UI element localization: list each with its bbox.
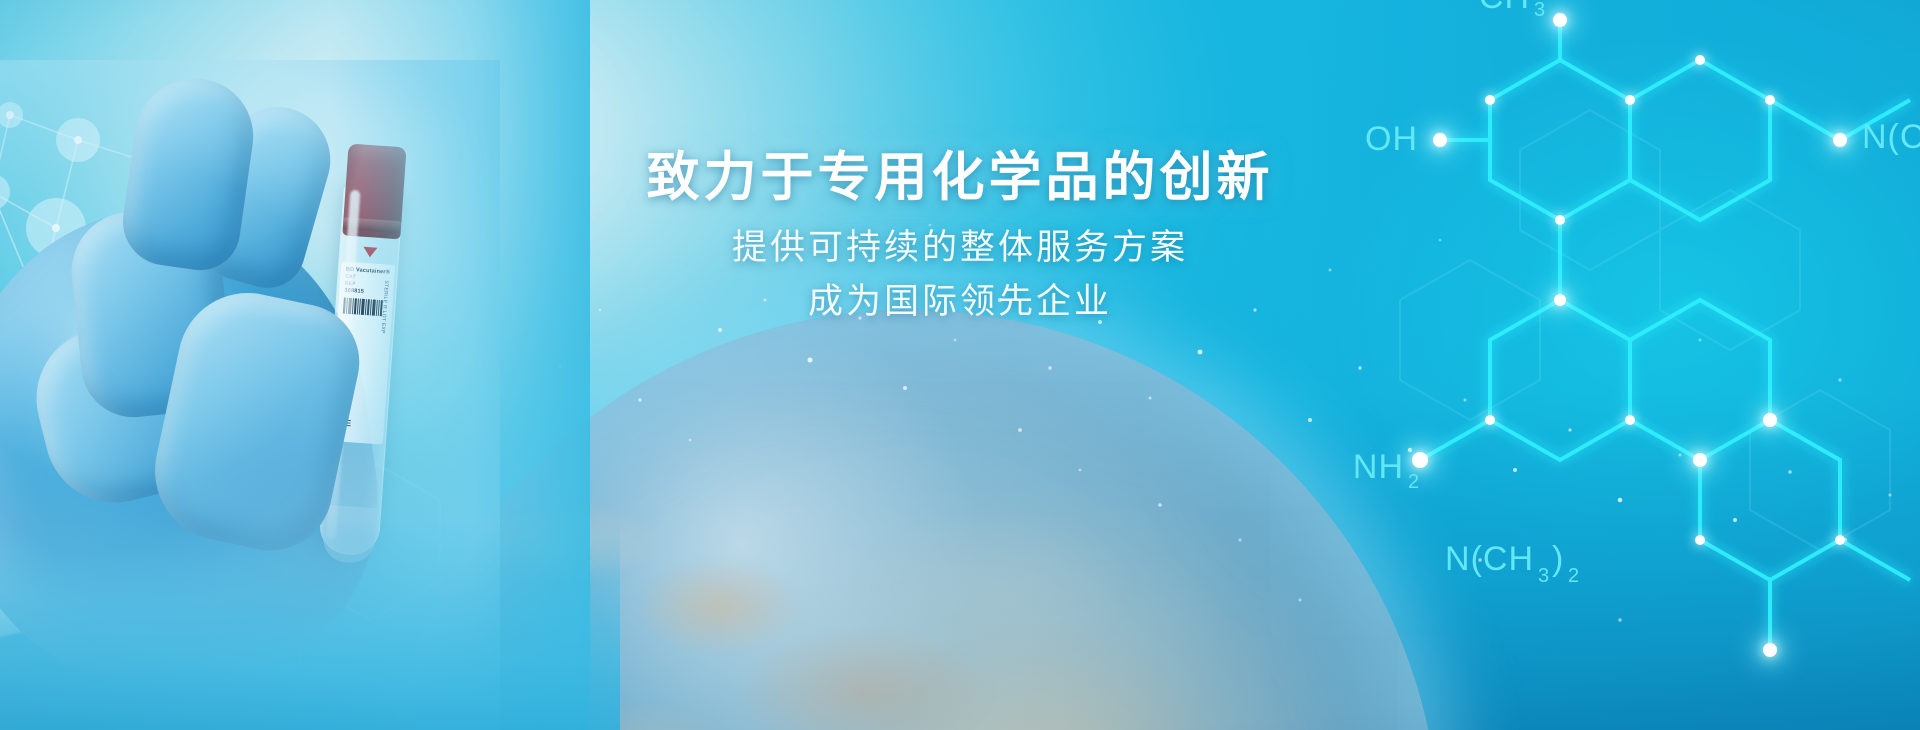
- hero-banner: CH 3 OH N(CH 3 NH 2 N(CH 3 ) 2: [0, 0, 1920, 730]
- vignette-overlay: [0, 0, 1920, 730]
